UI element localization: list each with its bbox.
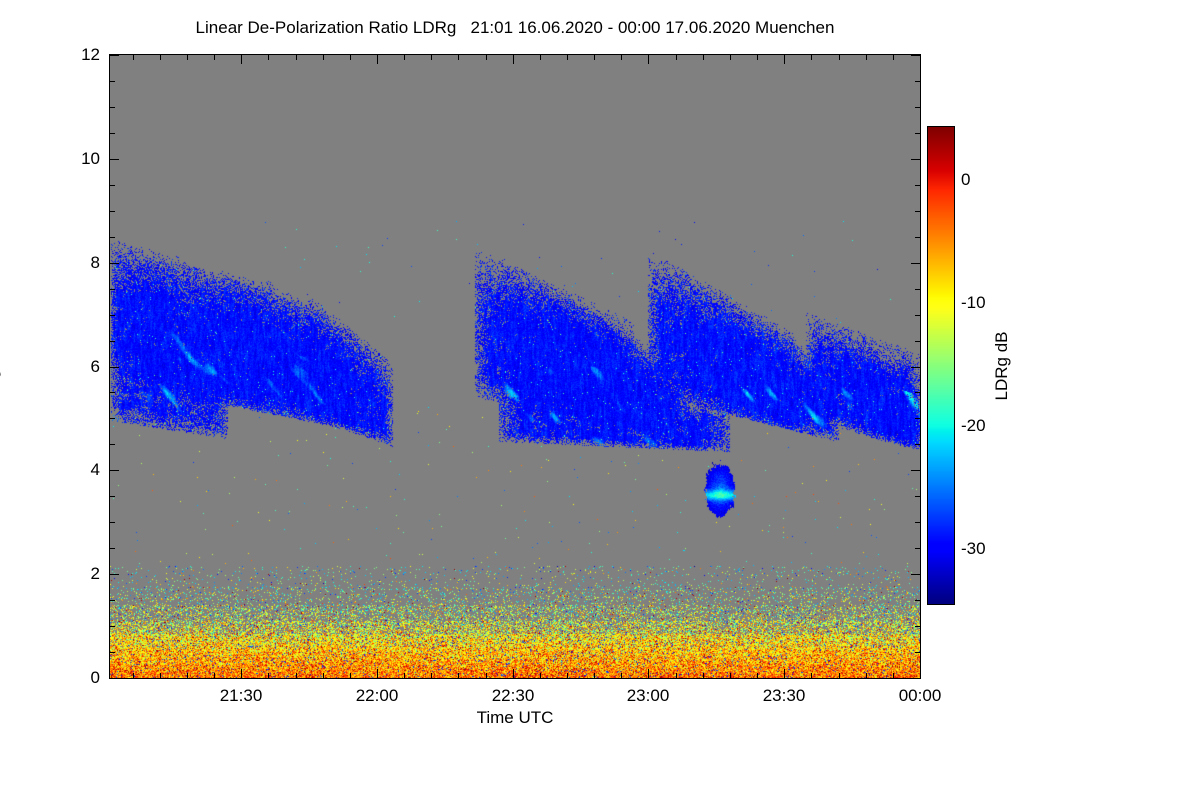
colorbar-tick-label: -30 (961, 539, 986, 559)
x-tick-minor (567, 55, 568, 60)
colorbar-gradient (927, 126, 955, 605)
x-tick-major (241, 55, 242, 64)
x-tick-minor (594, 55, 595, 60)
x-tick-major (920, 55, 921, 64)
x-tick-minor (811, 673, 812, 678)
x-tick-minor (350, 673, 351, 678)
x-tick-label: 23:30 (763, 686, 806, 706)
y-tick-minor (110, 289, 115, 290)
x-tick-minor (458, 673, 459, 678)
x-tick-minor (757, 673, 758, 678)
x-tick-minor (811, 55, 812, 60)
y-tick-minor (915, 107, 920, 108)
y-tick-minor (110, 81, 115, 82)
y-tick-major (110, 263, 119, 264)
x-tick-minor (323, 55, 324, 60)
y-tick-minor (915, 315, 920, 316)
x-tick-minor (133, 55, 134, 60)
x-tick-major (377, 55, 378, 64)
y-tick-minor (915, 81, 920, 82)
y-tick-label: 6 (60, 357, 100, 377)
x-tick-minor (431, 55, 432, 60)
y-tick-minor (110, 315, 115, 316)
y-axis-title: Height km (0, 328, 2, 405)
y-tick-major (911, 263, 920, 264)
y-tick-minor (110, 444, 115, 445)
x-tick-minor (730, 673, 731, 678)
x-tick-minor (540, 55, 541, 60)
y-tick-major (110, 367, 119, 368)
x-tick-minor (296, 673, 297, 678)
y-tick-minor (110, 652, 115, 653)
y-tick-minor (110, 107, 115, 108)
y-tick-minor (915, 496, 920, 497)
y-tick-minor (915, 133, 920, 134)
y-tick-major (110, 574, 119, 575)
x-tick-minor (350, 55, 351, 60)
x-tick-minor (594, 673, 595, 678)
y-tick-minor (110, 185, 115, 186)
y-tick-minor (915, 341, 920, 342)
y-tick-minor (110, 600, 115, 601)
x-tick-minor (486, 673, 487, 678)
y-tick-label: 0 (60, 668, 100, 688)
y-tick-minor (915, 237, 920, 238)
x-tick-minor (404, 55, 405, 60)
y-tick-minor (915, 289, 920, 290)
y-tick-minor (915, 185, 920, 186)
x-tick-minor (160, 673, 161, 678)
chart-root: Linear De-Polarization Ratio LDRg 21:01 … (0, 0, 1200, 800)
y-tick-minor (110, 496, 115, 497)
y-tick-label: 10 (60, 149, 100, 169)
x-tick-minor (323, 673, 324, 678)
x-tick-label: 21:30 (220, 686, 263, 706)
y-tick-minor (110, 341, 115, 342)
x-tick-minor (676, 55, 677, 60)
y-tick-minor (110, 626, 115, 627)
y-tick-major (110, 678, 119, 679)
x-tick-label: 22:30 (492, 686, 535, 706)
x-tick-major (513, 55, 514, 64)
colorbar-tick-label: 0 (961, 170, 970, 190)
y-tick-label: 8 (60, 253, 100, 273)
y-tick-minor (915, 392, 920, 393)
y-tick-minor (915, 600, 920, 601)
y-tick-minor (915, 548, 920, 549)
page-title: Linear De-Polarization Ratio LDRg 21:01 … (0, 18, 1030, 38)
y-tick-minor (110, 548, 115, 549)
x-tick-minor (540, 673, 541, 678)
heatmap-canvas (110, 55, 920, 678)
x-tick-minor (567, 673, 568, 678)
y-tick-minor (915, 652, 920, 653)
x-tick-minor (757, 55, 758, 60)
colorbar-tick-label: -10 (961, 293, 986, 313)
y-tick-minor (110, 522, 115, 523)
x-tick-label: 23:00 (627, 686, 670, 706)
plot-area (109, 54, 921, 679)
y-tick-label: 12 (60, 45, 100, 65)
x-tick-major (377, 669, 378, 678)
x-tick-minor (431, 673, 432, 678)
x-tick-label: 00:00 (899, 686, 942, 706)
y-tick-label: 4 (60, 460, 100, 480)
y-tick-minor (915, 211, 920, 212)
x-tick-minor (187, 673, 188, 678)
x-tick-minor (839, 673, 840, 678)
x-tick-minor (730, 55, 731, 60)
x-tick-minor (214, 55, 215, 60)
x-tick-label: 22:00 (356, 686, 399, 706)
y-tick-major (911, 574, 920, 575)
y-tick-major (911, 470, 920, 471)
y-tick-minor (110, 211, 115, 212)
x-tick-minor (703, 55, 704, 60)
x-tick-minor (133, 673, 134, 678)
x-tick-minor (268, 55, 269, 60)
x-tick-major (648, 669, 649, 678)
x-tick-minor (187, 55, 188, 60)
y-tick-label: 2 (60, 564, 100, 584)
x-tick-major (648, 55, 649, 64)
x-tick-minor (160, 55, 161, 60)
x-tick-minor (893, 673, 894, 678)
x-tick-minor (214, 673, 215, 678)
y-tick-minor (110, 418, 115, 419)
x-tick-major (513, 669, 514, 678)
y-tick-minor (110, 392, 115, 393)
x-tick-minor (866, 673, 867, 678)
y-tick-minor (110, 237, 115, 238)
y-tick-major (110, 470, 119, 471)
y-tick-major (911, 367, 920, 368)
x-tick-minor (676, 673, 677, 678)
x-tick-major (241, 669, 242, 678)
y-tick-major (110, 159, 119, 160)
x-tick-major (784, 669, 785, 678)
x-tick-major (784, 55, 785, 64)
y-tick-minor (915, 626, 920, 627)
x-tick-minor (621, 55, 622, 60)
x-tick-minor (893, 55, 894, 60)
x-tick-minor (458, 55, 459, 60)
x-tick-minor (268, 673, 269, 678)
y-tick-minor (915, 418, 920, 419)
x-axis-title: Time UTC (110, 708, 920, 728)
x-tick-minor (866, 55, 867, 60)
x-tick-minor (839, 55, 840, 60)
x-tick-minor (703, 673, 704, 678)
x-tick-major (920, 669, 921, 678)
y-tick-minor (915, 522, 920, 523)
x-tick-minor (621, 673, 622, 678)
y-tick-minor (915, 444, 920, 445)
colorbar-title: LDRg dB (992, 332, 1012, 401)
x-tick-minor (296, 55, 297, 60)
x-tick-minor (486, 55, 487, 60)
y-tick-major (110, 55, 119, 56)
colorbar-tick-label: -20 (961, 416, 986, 436)
y-tick-major (911, 159, 920, 160)
y-tick-major (911, 678, 920, 679)
y-tick-minor (110, 133, 115, 134)
y-tick-major (911, 55, 920, 56)
x-tick-minor (404, 673, 405, 678)
colorbar (928, 127, 954, 604)
